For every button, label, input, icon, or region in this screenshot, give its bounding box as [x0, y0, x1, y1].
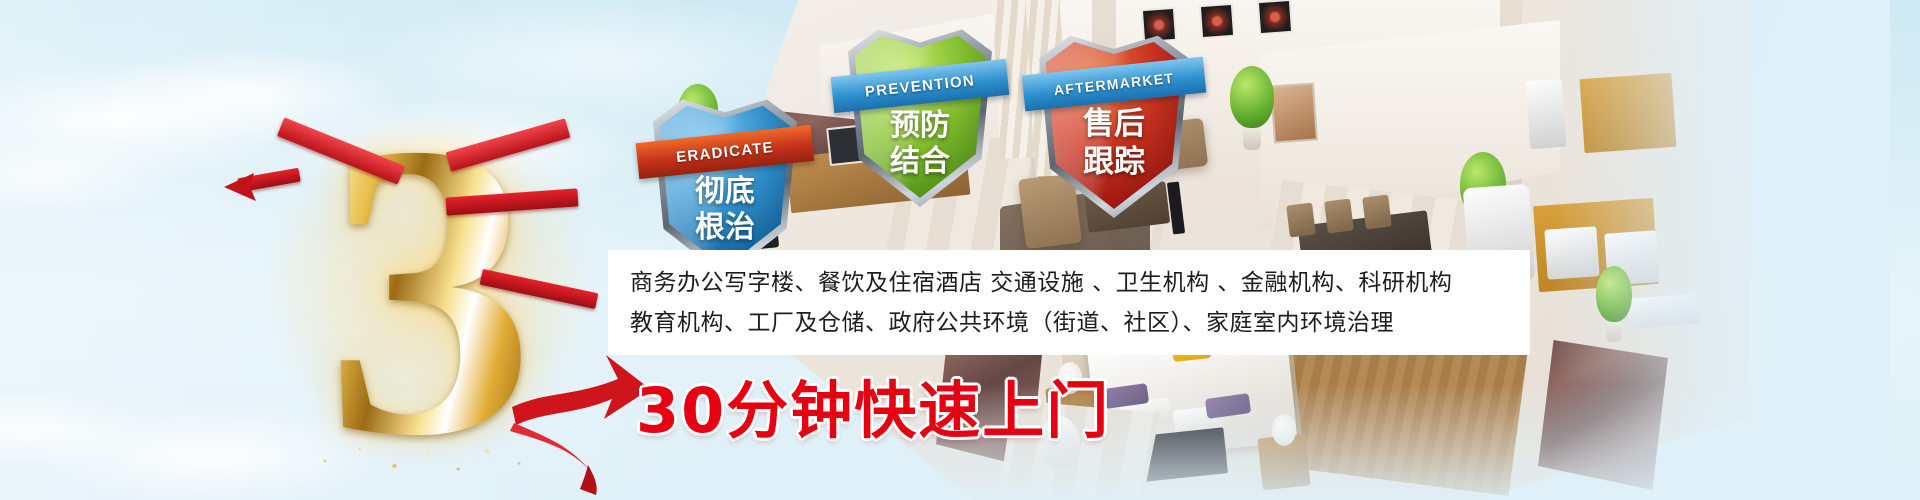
badge-cn-line2: 跟踪 — [1036, 146, 1192, 179]
badge-cn-line1: 预防 — [845, 110, 995, 142]
plant-leaf — [1230, 66, 1274, 128]
badge-cn-line2: 结合 — [845, 146, 995, 178]
dining-chair-1 — [1286, 203, 1316, 238]
service-scope-panel: 商务办公写字楼、餐饮及住宿酒店 交通设施 、卫生机构 、金融机构、科研机构 教育… — [608, 250, 1530, 355]
badge-cn-line1: 售后 — [1036, 108, 1192, 141]
plant-dining — [1230, 66, 1274, 152]
wall-art-2 — [1199, 3, 1235, 39]
wall-art-3 — [1257, 0, 1293, 35]
dining-chair-2 — [1324, 199, 1354, 234]
service-scope-line-1: 商务办公写字楼、餐饮及住宿酒店 交通设施 、卫生机构 、金融机构、科研机构 — [630, 263, 1508, 303]
service-scope-line-2: 教育机构、工厂及仓储、政府公共环境（街道、社区）、家庭室内环境治理 — [630, 303, 1508, 343]
badge-prevention: PREVENTION 预防 结合 — [845, 22, 995, 207]
dining-chair-3 — [1362, 195, 1392, 230]
plant-pot — [1243, 128, 1261, 150]
badge-aftermarket: AFTERMARKET 售后 跟踪 — [1036, 28, 1192, 218]
badge-cn-line1: 彻底 — [650, 176, 800, 208]
headline-text: 30分钟快速上门 — [636, 360, 1110, 450]
badge-ribbon-label: PREVENTION — [864, 72, 976, 100]
badge-cn-line2: 根治 — [650, 212, 800, 244]
promo-banner: 3 ERADICATE 彻底 根治 PREVENTION 预防 — [0, 0, 1920, 500]
badge-ribbon-label: AFTERMARKET — [1053, 70, 1175, 99]
red-ribbon-arrow-tip — [220, 167, 280, 217]
badge-ribbon-label: ERADICATE — [675, 138, 774, 165]
dining-wall-picture — [1270, 83, 1318, 144]
